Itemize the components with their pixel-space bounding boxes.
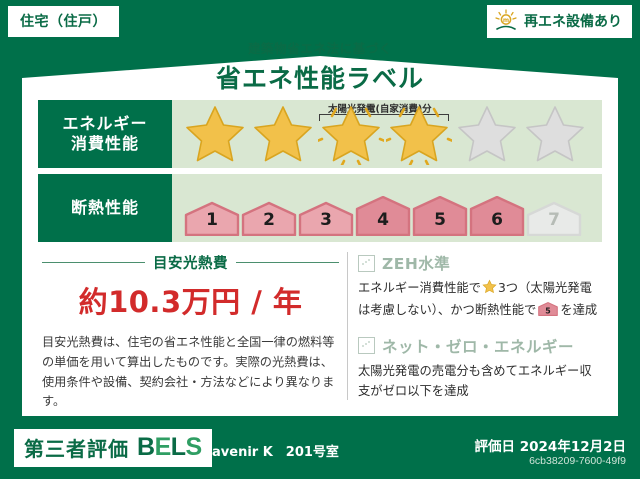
criterion-header: ネット・ゼロ・エネルギー bbox=[358, 335, 600, 357]
star-rating bbox=[172, 100, 602, 168]
star-6-empty bbox=[522, 103, 588, 165]
svg-text:m: m bbox=[503, 17, 509, 24]
star-2-filled bbox=[250, 103, 316, 165]
cost-note: 目安光熱費は、住宅の省エネ性能と全国一律の燃料等の単価を用いて算出したものです。… bbox=[42, 333, 339, 412]
title-subtitle: 建築物省エネ法に基づく bbox=[0, 38, 640, 57]
section-divider bbox=[347, 252, 348, 400]
insulation-label-text: 断熱性能 bbox=[71, 198, 139, 218]
label-content: エネルギー 消費性能 太陽光発電(自家消費)分 bbox=[30, 100, 610, 412]
insulation-performance-row: 断熱性能 1 2 3 4 5 6 7 bbox=[38, 174, 602, 242]
insulation-badge-4: 4 bbox=[355, 196, 411, 236]
page-title: 省エネ性能ラベル bbox=[0, 59, 640, 95]
energy-label-line2: 消費性能 bbox=[71, 134, 139, 154]
insulation-badge-area: 1 2 3 4 5 6 7 bbox=[172, 174, 602, 242]
cost-panel: 目安光熱費 約10.3万円 / 年 目安光熱費は、住宅の省エネ性能と全国一律の燃… bbox=[38, 248, 345, 408]
insulation-badge-value: 2 bbox=[263, 210, 275, 230]
empty-checkbox-icon[interactable] bbox=[358, 337, 375, 354]
renewable-badge-label: 再エネ設備あり bbox=[524, 11, 622, 31]
criterion-zeh: ZEH水準 エネルギー消費性能で 3つ（太陽光発電は考慮しない）、かつ断熱性能で… bbox=[358, 252, 600, 324]
unit-name: avenir K 201号室 bbox=[212, 441, 339, 460]
insulation-performance-label: 断熱性能 bbox=[38, 174, 172, 242]
insulation-badge-3: 3 bbox=[298, 196, 354, 236]
renewable-energy-badge: m 再エネ設備あり bbox=[487, 5, 632, 38]
cost-heading: 目安光熱費 bbox=[42, 252, 339, 273]
star-3-filled bbox=[318, 103, 384, 165]
title-block: 建築物省エネ法に基づく 省エネ性能ラベル bbox=[0, 38, 640, 95]
footer-bar: 第三者評価 BELS avenir K 201号室 評価日 2024年12月2日… bbox=[0, 415, 640, 479]
energy-performance-label: エネルギー 消費性能 bbox=[38, 100, 172, 168]
insulation-badge-5: 5 bbox=[412, 196, 468, 236]
criterion-header: ZEH水準 bbox=[358, 252, 600, 274]
bels-letter-b: B bbox=[137, 433, 155, 461]
svg-text:5: 5 bbox=[546, 306, 551, 315]
star-1-filled bbox=[182, 103, 248, 165]
insulation-badge-value: 6 bbox=[491, 210, 503, 230]
building-type-tag: 住宅（住戸） bbox=[8, 6, 119, 37]
insulation-badge-1: 1 bbox=[184, 196, 240, 236]
insulation-badge-value: 1 bbox=[206, 210, 218, 230]
empty-checkbox-icon[interactable] bbox=[358, 255, 375, 272]
energy-star-area: 太陽光発電(自家消費)分 bbox=[172, 100, 602, 168]
energy-label-line1: エネルギー bbox=[62, 114, 147, 134]
evaluation-id: 6cb38209-7600-49f9 bbox=[529, 455, 626, 467]
insulation-badge-value: 7 bbox=[548, 210, 560, 230]
bels-jp-label: 第三者評価 bbox=[24, 433, 129, 462]
bels-en-label: BELS bbox=[137, 433, 202, 462]
insulation-badge-value: 3 bbox=[320, 210, 332, 230]
star-5-empty bbox=[454, 103, 520, 165]
insulation-badge-6: 6 bbox=[469, 196, 525, 236]
insulation-badge-7: 7 bbox=[526, 196, 582, 236]
criterion-title: ZEH水準 bbox=[382, 252, 450, 274]
insulation-badge-value: 4 bbox=[377, 210, 389, 230]
evaluation-date: 評価日 2024年12月2日 bbox=[475, 435, 626, 455]
criterion-title: ネット・ゼロ・エネルギー bbox=[382, 335, 574, 357]
insulation-level-scale: 1 2 3 4 5 6 7 bbox=[172, 174, 602, 242]
criterion-text: 太陽光発電の売電分も含めてエネルギー収支がゼロ以下を達成 bbox=[358, 362, 600, 402]
insulation-badge-value: 5 bbox=[434, 210, 446, 230]
bels-letter-e: E bbox=[155, 433, 171, 461]
bels-letter-s: S bbox=[186, 433, 202, 461]
inline-insulation-badge: 5 bbox=[538, 301, 558, 324]
solar-sun-icon: m bbox=[493, 9, 519, 33]
lower-section: 目安光熱費 約10.3万円 / 年 目安光熱費は、住宅の省エネ性能と全国一律の燃… bbox=[38, 248, 602, 408]
cost-value: 約10.3万円 / 年 bbox=[42, 279, 339, 321]
criterion-text: エネルギー消費性能で 3つ（太陽光発電は考慮しない）、かつ断熱性能で 5 を達成 bbox=[358, 279, 600, 324]
star-4-filled bbox=[386, 103, 452, 165]
inline-star-icon bbox=[482, 279, 497, 301]
criterion-net-zero-energy: ネット・ゼロ・エネルギー 太陽光発電の売電分も含めてエネルギー収支がゼロ以下を達… bbox=[358, 335, 600, 402]
criteria-panel: ZEH水準 エネルギー消費性能で 3つ（太陽光発電は考慮しない）、かつ断熱性能で… bbox=[358, 248, 602, 408]
energy-performance-row: エネルギー 消費性能 太陽光発電(自家消費)分 bbox=[38, 100, 602, 168]
bels-letter-l: L bbox=[171, 433, 186, 461]
bels-logo: 第三者評価 BELS bbox=[14, 429, 212, 467]
insulation-badge-2: 2 bbox=[241, 196, 297, 236]
